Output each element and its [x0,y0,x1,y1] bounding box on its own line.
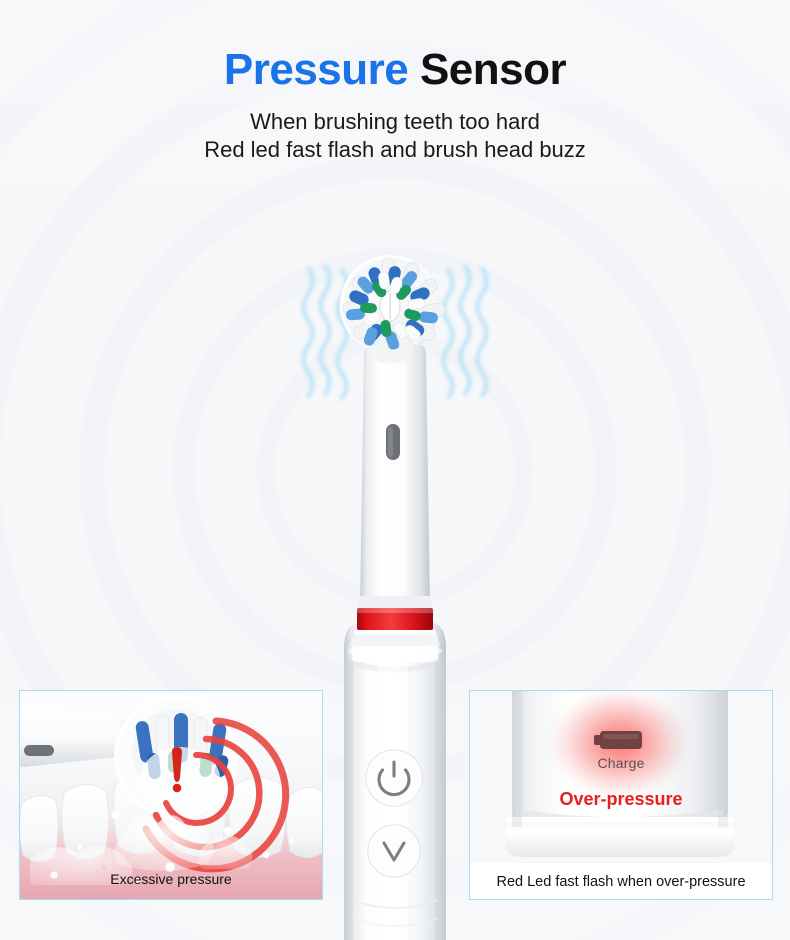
subtitle-line-1: When brushing teeth too hard [250,109,540,134]
handle-closeup-illustration [470,691,770,863]
handle-closeup-scene: Charge Over-pressure [470,691,772,863]
title-rest: Sensor [408,45,566,94]
product-feature-page: Pressure Sensor When brushing teeth too … [0,0,790,940]
inset-left-caption: Excessive pressure [20,871,322,887]
inset-panel-over-pressure: Charge Over-pressure Red Led fast flash … [469,690,773,900]
header-block: Pressure Sensor When brushing teeth too … [0,46,790,164]
inset-right-caption: Red Led fast flash when over-pressure [470,874,772,890]
page-title: Pressure Sensor [0,46,790,94]
title-highlight: Pressure [224,45,408,94]
exclamation-icon [172,747,182,792]
battery-icon [594,731,642,749]
subtitle: When brushing teeth too hard Red led fas… [0,108,790,164]
over-pressure-status: Over-pressure [470,789,772,810]
inset-panel-excessive-pressure: Excessive pressure [19,690,323,900]
subtitle-line-2: Red led fast flash and brush head buzz [0,136,790,164]
teeth-illustration [20,691,322,899]
charge-label: Charge [470,755,772,771]
